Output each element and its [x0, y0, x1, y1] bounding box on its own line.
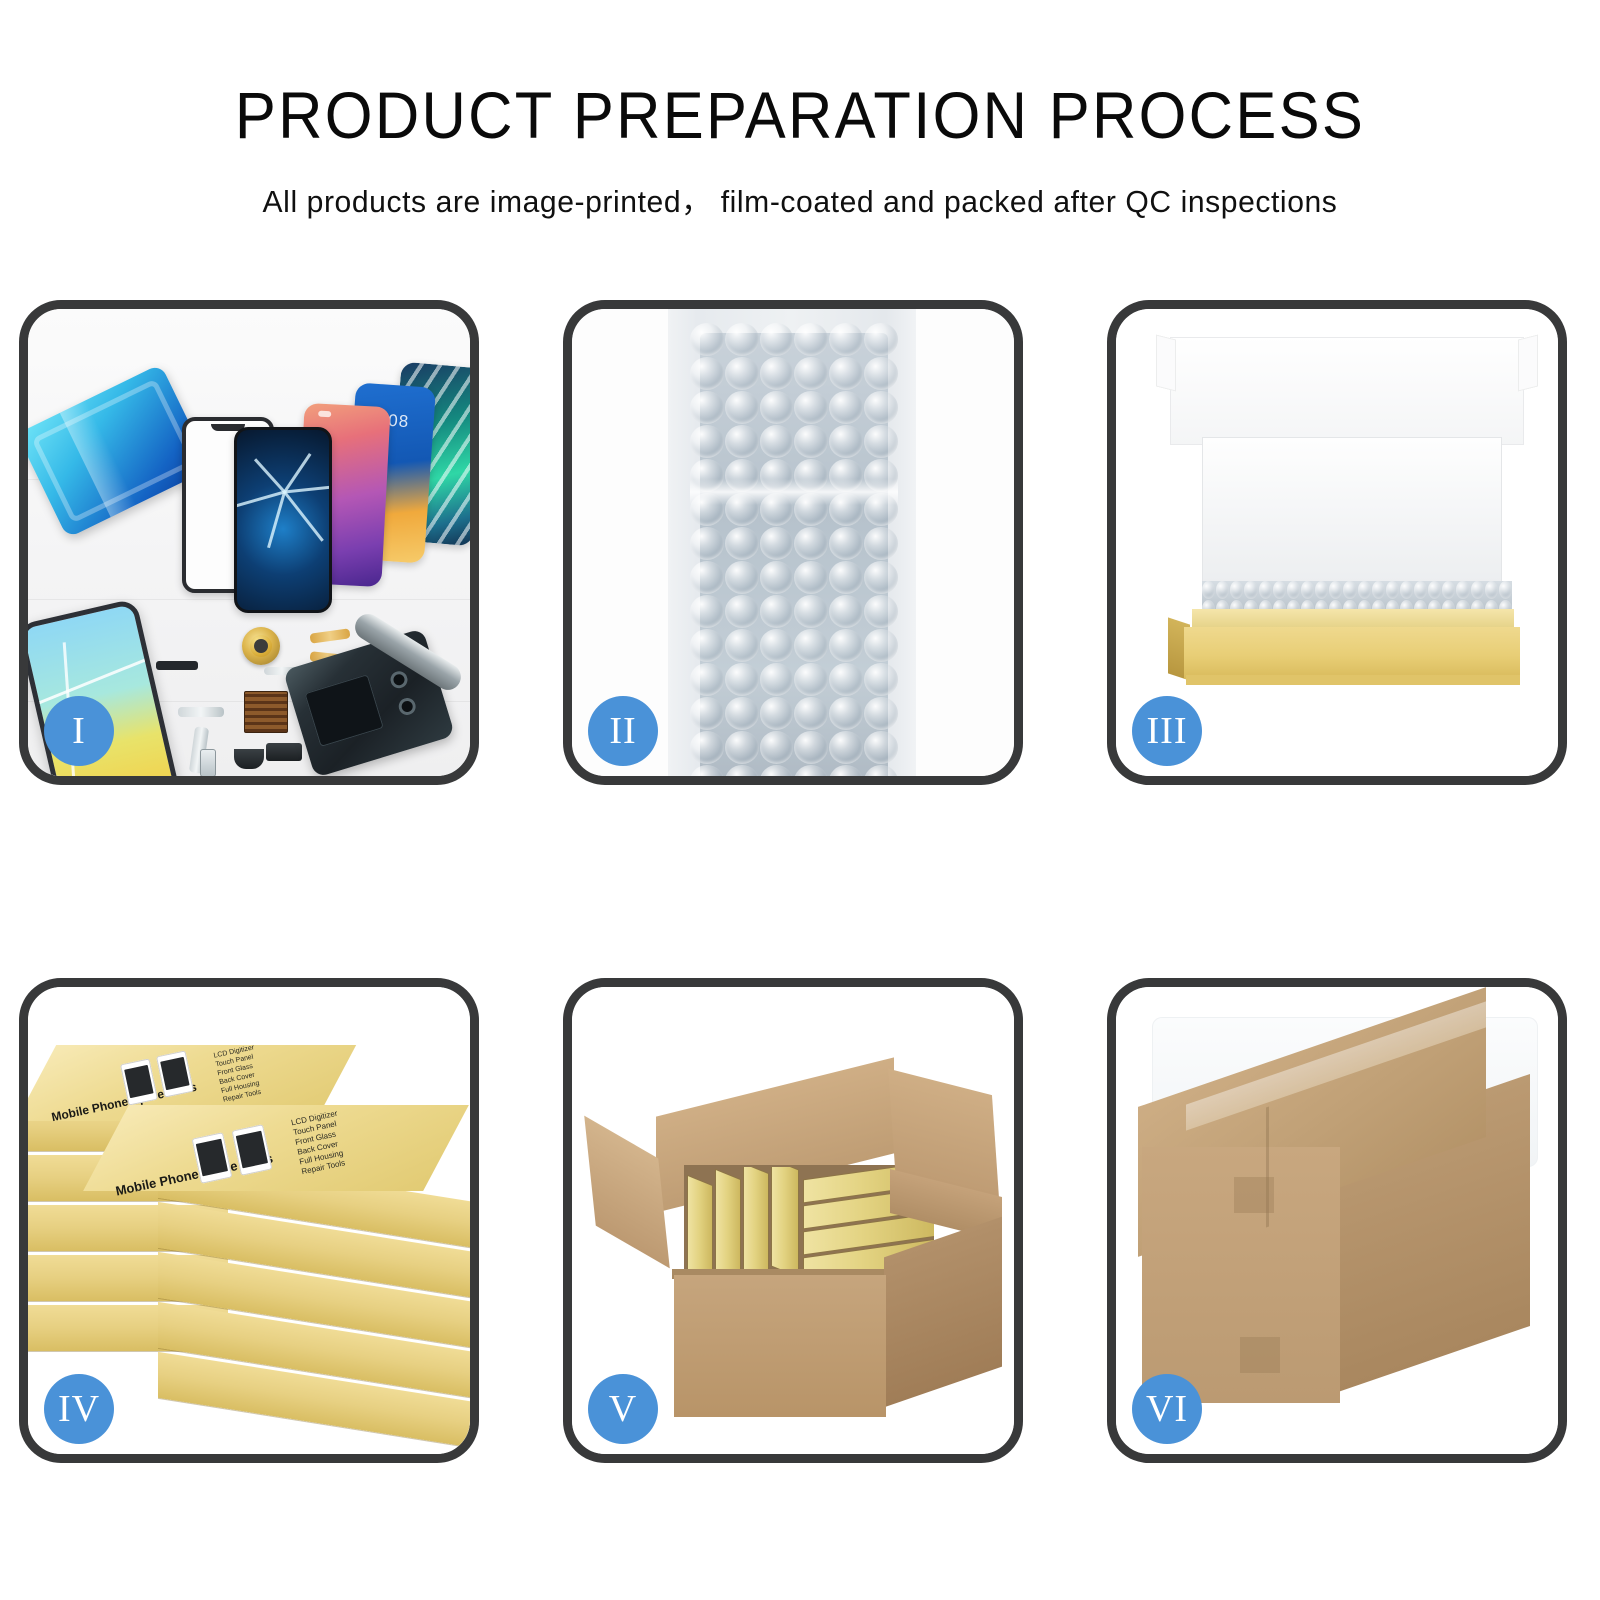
bubble [864, 391, 898, 424]
sim-tray-part [200, 749, 216, 776]
bubble [1428, 581, 1441, 599]
bubble [794, 731, 828, 764]
bubble [725, 595, 759, 628]
bubble [760, 323, 794, 356]
bubble [760, 357, 794, 390]
bubble [1386, 581, 1399, 599]
bubble [794, 561, 828, 594]
step-1-image: 06:08 [28, 309, 470, 776]
bubble [864, 629, 898, 662]
taptic-coil-part [242, 627, 280, 665]
bubble [1259, 581, 1272, 599]
packed-retail-box [772, 1167, 798, 1276]
camera-lens [388, 669, 409, 690]
bubble [864, 425, 898, 458]
bubble [725, 561, 759, 594]
bubble [864, 731, 898, 764]
battery-part [304, 674, 383, 747]
bubble [760, 527, 794, 560]
bubble [794, 357, 828, 390]
bubble [829, 391, 863, 424]
packed-retail-box [744, 1167, 768, 1279]
step-badge-6: VI [1132, 1374, 1202, 1444]
bubble [725, 663, 759, 696]
bubble [864, 663, 898, 696]
bubble [1343, 581, 1356, 599]
bubble [1485, 581, 1498, 599]
bubble [829, 663, 863, 696]
bubble [760, 731, 794, 764]
bubble [829, 357, 863, 390]
bubble [1216, 581, 1229, 599]
bubble [760, 425, 794, 458]
bubble [794, 595, 828, 628]
bubble [794, 765, 828, 776]
bubble [1273, 581, 1286, 599]
bubble [690, 527, 724, 560]
bubble [1471, 581, 1484, 599]
bubble [760, 391, 794, 424]
bubble [1372, 581, 1385, 599]
carton-tab [1240, 1337, 1280, 1373]
bubble [760, 663, 794, 696]
bubble [1400, 581, 1413, 599]
bubble [794, 629, 828, 662]
bubble [864, 527, 898, 560]
box-front-panel [1184, 627, 1520, 679]
bubble [829, 527, 863, 560]
bubble [725, 731, 759, 764]
step-panel-4: Mobile Phone Spare Parts LCD Digitizer T… [19, 978, 479, 1463]
speaker-module-part [266, 743, 302, 761]
bubble [1329, 581, 1342, 599]
bubble [1414, 581, 1427, 599]
carton-tab [1234, 1177, 1274, 1213]
bubble [690, 629, 724, 662]
bubble [1442, 581, 1455, 599]
bubble [1202, 581, 1215, 599]
bubble [760, 561, 794, 594]
bubble [760, 697, 794, 730]
speaker-mesh-part [156, 661, 198, 670]
bubble [794, 391, 828, 424]
bubble [1456, 581, 1469, 599]
bubble-grid [690, 323, 898, 776]
bubble [1358, 581, 1371, 599]
step-badge-5: V [588, 1374, 658, 1444]
bubble [829, 595, 863, 628]
bubble [725, 357, 759, 390]
bubble [864, 561, 898, 594]
step-badge-1: I [44, 696, 114, 766]
bubble [1287, 581, 1300, 599]
step-panel-1: 06:08 [19, 300, 479, 785]
foam-liner [1202, 437, 1502, 585]
bubble [690, 357, 724, 390]
bubble [690, 425, 724, 458]
packed-retail-box [716, 1170, 740, 1279]
bubble [1499, 581, 1512, 599]
bubble [829, 425, 863, 458]
speaker-module-part [234, 749, 264, 769]
ic-chip-part [244, 691, 288, 733]
bubble [690, 595, 724, 628]
bubble [725, 323, 759, 356]
step-panel-6: VI [1107, 978, 1567, 1463]
step-badge-4: IV [44, 1374, 114, 1444]
bubble [829, 765, 863, 776]
bubble [829, 697, 863, 730]
page-title: PRODUCT PREPARATION PROCESS [56, 0, 1544, 148]
bubble [760, 765, 794, 776]
bubble [690, 391, 724, 424]
bubble [690, 731, 724, 764]
step-5-image: V [572, 987, 1014, 1454]
process-step-grid: 06:08 [12, 293, 1596, 1463]
bubble [864, 697, 898, 730]
step-panel-5: V [563, 978, 1023, 1463]
carton-front-panel [674, 1275, 886, 1417]
step-4-image: Mobile Phone Spare Parts LCD Digitizer T… [28, 987, 470, 1454]
box-front-lip [1186, 675, 1520, 685]
bubble [725, 391, 759, 424]
bubble [725, 765, 759, 776]
bubble [690, 323, 724, 356]
bubble [725, 425, 759, 458]
bubble [1315, 581, 1328, 599]
bubble [794, 663, 828, 696]
bubble [864, 323, 898, 356]
cracked-lcd-screen [234, 427, 332, 613]
step-badge-3: III [1132, 696, 1202, 766]
bubble [760, 629, 794, 662]
step-2-image: II [572, 309, 1014, 776]
bubble [690, 663, 724, 696]
bubble [725, 629, 759, 662]
bubble [690, 561, 724, 594]
flex-cable-part [178, 707, 224, 717]
bubble [829, 323, 863, 356]
page-subtitle: All products are image-printed， film-coa… [24, 148, 1576, 221]
bubble [864, 595, 898, 628]
bubble [794, 425, 828, 458]
bubble [1244, 581, 1257, 599]
bubble [725, 527, 759, 560]
bubble [1230, 581, 1243, 599]
bubble [725, 697, 759, 730]
step-panel-2: II [563, 300, 1023, 785]
bubble [794, 323, 828, 356]
step-badge-2: II [588, 696, 658, 766]
bubble [829, 731, 863, 764]
step-3-image: III [1116, 309, 1558, 776]
bubble [794, 697, 828, 730]
bubble [864, 765, 898, 776]
bubble [690, 697, 724, 730]
bubble [794, 527, 828, 560]
bubble [864, 357, 898, 390]
gloss-highlight [690, 479, 898, 505]
bubble [829, 629, 863, 662]
packed-retail-box [688, 1176, 712, 1279]
mailer-box-lid [1170, 337, 1524, 445]
step-panel-3: III [1107, 300, 1567, 785]
step-6-image: VI [1116, 987, 1558, 1454]
camera-lens [397, 696, 418, 717]
bubble [1301, 581, 1314, 599]
bubble [829, 561, 863, 594]
header: PRODUCT PREPARATION PROCESS All products… [0, 0, 1600, 221]
bubble [760, 595, 794, 628]
bubble [690, 765, 724, 776]
